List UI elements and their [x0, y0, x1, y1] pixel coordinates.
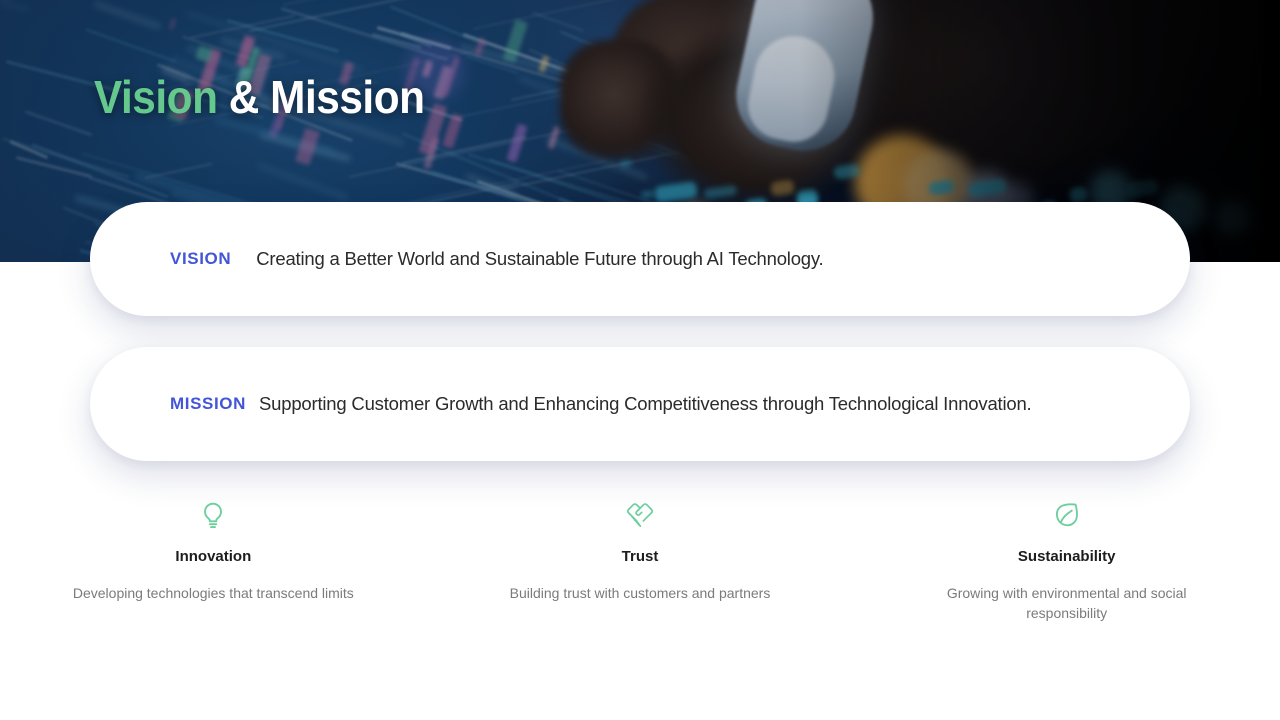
feature-title-innovation: Innovation	[175, 548, 251, 565]
leaf-icon	[1051, 500, 1083, 532]
vision-card[interactable]: VISION Creating a Better World and Susta…	[90, 202, 1190, 316]
mission-statement: Supporting Customer Growth and Enhancing…	[259, 393, 1032, 415]
feature-desc-trust: Building trust with customers and partne…	[510, 583, 771, 603]
feature-sustainability: Sustainability Growing with environmenta…	[853, 500, 1280, 624]
vision-statement: Creating a Better World and Sustainable …	[256, 248, 823, 270]
feature-title-sustainability: Sustainability	[1018, 548, 1116, 565]
mission-label: MISSION	[90, 394, 246, 414]
feature-trust: Trust Building trust with customers and …	[427, 500, 854, 624]
lightbulb-icon	[197, 500, 229, 532]
slide-vision-mission: Vision & Mission VISION Creating a Bette…	[0, 0, 1280, 720]
feature-desc-innovation: Developing technologies that transcend l…	[73, 583, 354, 603]
feature-desc-sustainability: Growing with environmental and social re…	[922, 583, 1212, 624]
page-title-white: & Mission	[229, 71, 425, 123]
handshake-icon	[624, 500, 656, 532]
mission-card[interactable]: MISSION Supporting Customer Growth and E…	[90, 347, 1190, 461]
page-title-green: Vision	[94, 71, 217, 123]
vision-label: VISION	[90, 249, 231, 269]
feature-innovation: Innovation Developing technologies that …	[0, 500, 427, 624]
page-title: Vision & Mission	[94, 74, 424, 120]
feature-row: Innovation Developing technologies that …	[0, 500, 1280, 624]
feature-title-trust: Trust	[622, 548, 659, 565]
